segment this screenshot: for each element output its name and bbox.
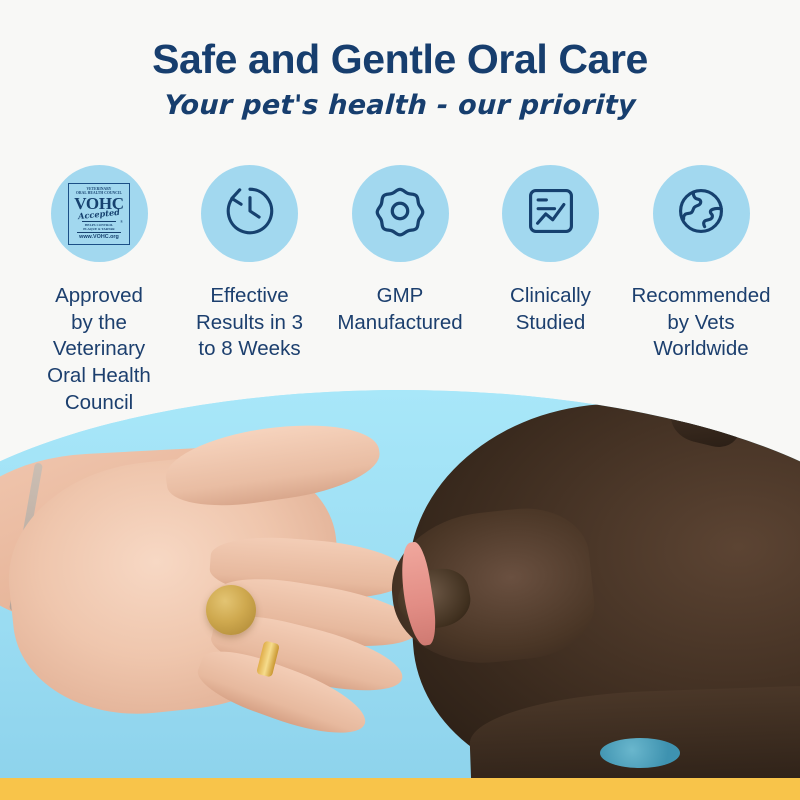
page-title: Safe and Gentle Oral Care bbox=[0, 38, 800, 81]
feature-list: VETERINARY ORAL HEALTH COUNCIL VOHC Acce… bbox=[0, 165, 800, 416]
vohc-divider-bottom bbox=[77, 232, 121, 233]
feature-icon-circle-clock bbox=[201, 165, 298, 262]
product-photo bbox=[0, 390, 800, 778]
globe-icon bbox=[673, 183, 729, 244]
vohc-url: www.VOHC.org bbox=[79, 234, 119, 241]
dog-collar-tag bbox=[600, 738, 680, 768]
footer-accent-bar bbox=[0, 778, 800, 800]
feature-item-effective-results: Effective Results in 3 to 8 Weeks bbox=[179, 165, 321, 416]
feature-label-clinically-studied: Clinically Studied bbox=[510, 283, 591, 336]
feature-icon-circle-chart bbox=[502, 165, 599, 262]
gear-icon bbox=[372, 183, 428, 244]
promo-graphic: Safe and Gentle Oral Care Your pet's hea… bbox=[0, 0, 800, 800]
feature-icon-circle-gear bbox=[352, 165, 449, 262]
photo-scene bbox=[0, 390, 800, 778]
feature-item-vohc: VETERINARY ORAL HEALTH COUNCIL VOHC Acce… bbox=[28, 165, 170, 416]
vohc-seal-icon: VETERINARY ORAL HEALTH COUNCIL VOHC Acce… bbox=[68, 183, 130, 245]
vohc-bottom-line-2: PLAQUE & TARTAR bbox=[83, 227, 114, 231]
feature-item-clinically-studied: Clinically Studied bbox=[480, 165, 622, 416]
vohc-registered-mark: ® bbox=[120, 219, 123, 224]
photo-arch-mask bbox=[0, 390, 800, 778]
clock-rewind-icon bbox=[221, 182, 279, 245]
thumb bbox=[161, 413, 384, 514]
feature-icon-circle-vohc: VETERINARY ORAL HEALTH COUNCIL VOHC Acce… bbox=[51, 165, 148, 262]
feature-item-recommended-by-vets: Recommended by Vets Worldwide bbox=[630, 165, 772, 416]
feature-label-recommended-by-vets: Recommended by Vets Worldwide bbox=[631, 283, 770, 363]
feature-icon-circle-globe bbox=[653, 165, 750, 262]
feature-label-gmp: GMP Manufactured bbox=[337, 283, 462, 336]
dental-chew bbox=[206, 585, 256, 635]
feature-label-effective-results: Effective Results in 3 to 8 Weeks bbox=[196, 283, 303, 363]
vohc-accepted: Accepted bbox=[78, 208, 121, 221]
header: Safe and Gentle Oral Care Your pet's hea… bbox=[0, 0, 800, 121]
feature-item-gmp: GMP Manufactured bbox=[329, 165, 471, 416]
page-subtitle: Your pet's health - our priority bbox=[0, 90, 800, 121]
chart-document-icon bbox=[523, 183, 579, 244]
vohc-divider-top bbox=[82, 221, 116, 222]
